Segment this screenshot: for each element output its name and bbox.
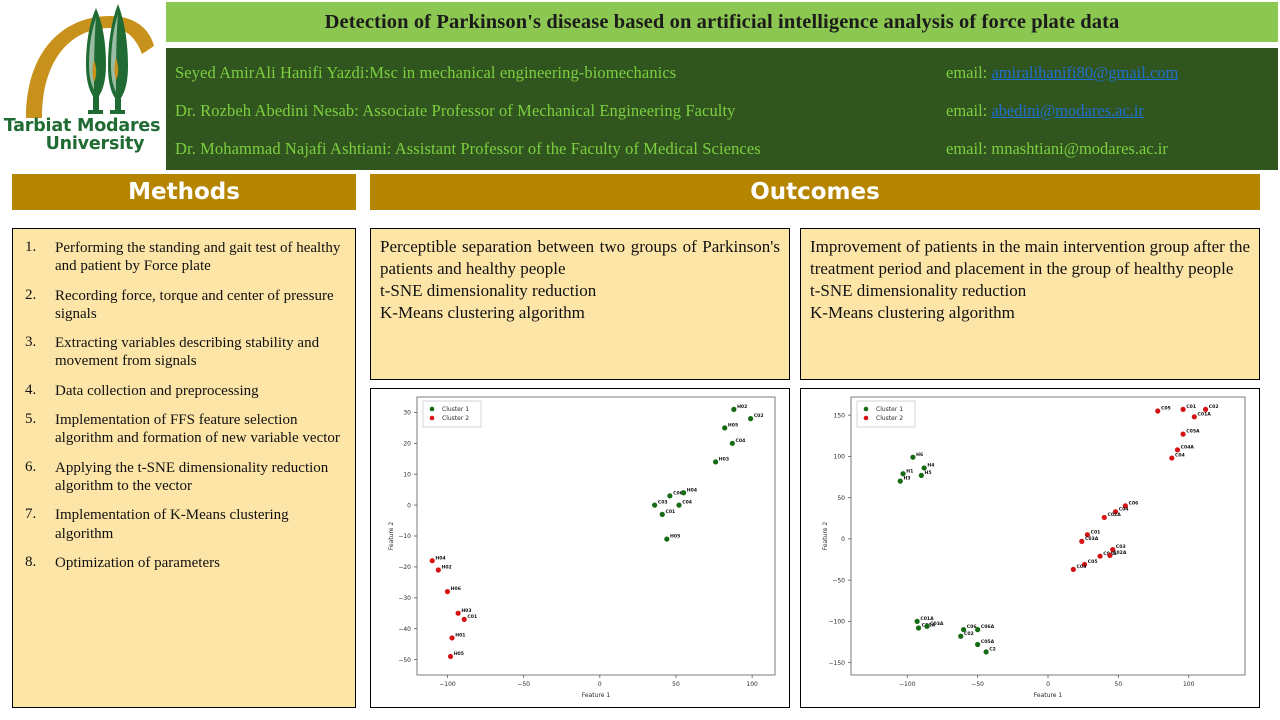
list-item: 2. Recording force, torque and center of…: [17, 287, 347, 324]
svg-text:C05: C05: [1161, 406, 1171, 412]
svg-text:100: 100: [746, 681, 758, 688]
svg-text:C04A: C04A: [1181, 444, 1195, 450]
poster-title-band: Detection of Parkinson's disease based o…: [166, 2, 1278, 42]
list-item-number: 2.: [17, 287, 55, 324]
svg-text:C04: C04: [1175, 453, 1185, 459]
svg-text:H1: H1: [906, 468, 913, 474]
svg-text:−100: −100: [439, 681, 456, 688]
svg-text:C02: C02: [964, 631, 974, 637]
author-name: Dr. Mohammad Najafi Ashtiani: Assistant …: [175, 139, 761, 159]
svg-text:Cluster 1: Cluster 1: [876, 406, 903, 413]
svg-text:H05: H05: [454, 651, 464, 657]
list-item-number: 4.: [17, 382, 55, 400]
svg-text:Cluster 1: Cluster 1: [442, 406, 469, 413]
logo-wordmark: Tarbiat Modares University: [0, 118, 164, 154]
author-row: Seyed AmirAli Hanifi Yazdi:Msc in mechan…: [166, 54, 1278, 92]
svg-text:C04: C04: [682, 500, 692, 506]
svg-text:0: 0: [1046, 681, 1050, 688]
list-item-label: Optimization of parameters: [55, 554, 220, 572]
svg-text:100: 100: [1183, 681, 1195, 688]
list-item: 8. Optimization of parameters: [17, 554, 347, 572]
list-item: 3. Extracting variables describing stabi…: [17, 334, 347, 371]
svg-text:−10: −10: [398, 533, 411, 540]
svg-text:C04: C04: [736, 438, 746, 444]
author-email: email: amiralihanifi80@gmail.com: [946, 63, 1178, 83]
list-item: 7. Implementation of K-Means clustering …: [17, 506, 347, 543]
svg-text:C2: C2: [989, 647, 996, 653]
outcome-right-line-2: t-SNE dimensionality reduction: [810, 280, 1250, 302]
svg-text:H6: H6: [916, 452, 923, 458]
outcome-right-textbox: Improvement of patients in the main inte…: [800, 228, 1260, 380]
outcome-card-right: Improvement of patients in the main inte…: [800, 228, 1260, 708]
outcome-left-paragraph: Perceptible separation between two group…: [380, 236, 780, 280]
svg-text:C01: C01: [1186, 404, 1196, 410]
svg-text:0: 0: [598, 681, 602, 688]
list-item-number: 6.: [17, 459, 55, 496]
email-label: email:: [946, 63, 987, 82]
svg-text:H02: H02: [737, 404, 747, 410]
svg-text:C02A: C02A: [1113, 550, 1127, 556]
svg-text:−100: −100: [829, 619, 846, 626]
svg-text:H5: H5: [925, 470, 932, 476]
outcome-left-line-2: t-SNE dimensionality reduction: [380, 280, 780, 302]
svg-text:C01: C01: [467, 614, 477, 620]
list-item-label: Performing the standing and gait test of…: [55, 239, 347, 276]
svg-text:Feature 2: Feature 2: [388, 522, 395, 551]
svg-text:Cluster 2: Cluster 2: [442, 415, 469, 422]
svg-text:Feature 1: Feature 1: [582, 692, 611, 699]
scatter-plot-left: −100−50050100−50−40−30−20−100102030Featu…: [370, 388, 790, 708]
svg-text:50: 50: [837, 495, 845, 502]
section-header-methods: Methods: [12, 174, 356, 210]
author-email: email: mnashtiani@modares.ac.ir: [946, 139, 1168, 159]
svg-text:H02: H02: [442, 565, 452, 571]
list-item-label: Recording force, torque and center of pr…: [55, 287, 347, 324]
svg-text:C03: C03: [1077, 564, 1087, 570]
svg-text:H4: H4: [927, 463, 934, 469]
svg-text:−50: −50: [517, 681, 530, 688]
svg-text:C03A: C03A: [1085, 536, 1099, 542]
list-item-number: 3.: [17, 334, 55, 371]
svg-text:50: 50: [1115, 681, 1123, 688]
svg-text:H01: H01: [455, 633, 465, 639]
list-item-label: Implementation of FFS feature selection …: [55, 411, 347, 448]
svg-text:C03: C03: [1116, 544, 1126, 550]
section-header-outcomes: Outcomes: [370, 174, 1260, 210]
svg-text:H03: H03: [719, 456, 729, 462]
list-item-label: Extracting variables describing stabilit…: [55, 334, 347, 371]
outcome-left-line-3: K-Means clustering algorithm: [380, 302, 780, 324]
svg-text:H05: H05: [728, 422, 738, 428]
svg-text:C03: C03: [658, 500, 668, 506]
author-email-link[interactable]: abedini@modares.ac.ir: [991, 101, 1144, 120]
list-item-label: Applying the t-SNE dimensionality reduct…: [55, 459, 347, 496]
svg-text:C02: C02: [754, 413, 764, 419]
svg-text:C05: C05: [1088, 559, 1098, 565]
list-item-label: Implementation of K-Means clustering alg…: [55, 506, 347, 543]
svg-text:Feature 2: Feature 2: [822, 522, 829, 551]
svg-text:−100: −100: [899, 681, 916, 688]
author-name: Dr. Rozbeh Abedini Nesab: Associate Prof…: [175, 101, 736, 121]
section-header-methods-label: Methods: [128, 179, 240, 205]
svg-text:H06: H06: [451, 586, 461, 592]
scatter-plot-left-canvas: −100−50050100−50−40−30−20−100102030Featu…: [371, 389, 787, 705]
list-item: 1. Performing the standing and gait test…: [17, 239, 347, 276]
svg-text:C06: C06: [1129, 500, 1139, 506]
svg-text:C04: C04: [1119, 506, 1129, 512]
svg-text:C05A: C05A: [981, 639, 995, 645]
svg-text:H03: H03: [461, 608, 471, 614]
page-title: Detection of Parkinson's disease based o…: [325, 11, 1120, 34]
svg-text:H3: H3: [903, 476, 910, 482]
svg-text:H05: H05: [670, 534, 680, 540]
svg-text:−50: −50: [971, 681, 984, 688]
list-item: 4. Data collection and preprocessing: [17, 382, 347, 400]
svg-text:C01: C01: [665, 509, 675, 515]
list-item-number: 5.: [17, 411, 55, 448]
scatter-plot-right-canvas: −100−50050100−150−100−50050100150Feature…: [801, 389, 1257, 705]
svg-text:C03A: C03A: [930, 621, 944, 627]
svg-text:C01: C01: [1091, 529, 1101, 535]
outcome-right-paragraph: Improvement of patients in the main inte…: [810, 236, 1250, 280]
svg-text:30: 30: [403, 410, 411, 417]
svg-text:H04: H04: [687, 487, 697, 493]
section-header-outcomes-label: Outcomes: [750, 179, 880, 205]
email-label: email:: [946, 101, 987, 120]
svg-text:50: 50: [672, 681, 680, 688]
list-item-number: 8.: [17, 554, 55, 572]
svg-text:0: 0: [841, 536, 845, 543]
svg-text:150: 150: [834, 412, 846, 419]
svg-text:C02A: C02A: [1107, 512, 1121, 518]
email-label: email:: [946, 139, 987, 158]
outcome-card-left: Perceptible separation between two group…: [370, 228, 790, 708]
list-item: 5. Implementation of FFS feature selecti…: [17, 411, 347, 448]
list-item-number: 7.: [17, 506, 55, 543]
svg-text:0: 0: [407, 502, 411, 509]
author-name: Seyed AmirAli Hanifi Yazdi:Msc in mechan…: [175, 63, 676, 83]
poster-root: Tarbiat Modares University Detection of …: [0, 0, 1280, 720]
authors-band: Seyed AmirAli Hanifi Yazdi:Msc in mechan…: [166, 48, 1278, 170]
outcome-left-textbox: Perceptible separation between two group…: [370, 228, 790, 380]
methods-panel: 1. Performing the standing and gait test…: [12, 228, 356, 708]
outcome-right-line-3: K-Means clustering algorithm: [810, 302, 1250, 324]
svg-text:Feature 1: Feature 1: [1034, 692, 1063, 699]
list-item-label: Data collection and preprocessing: [55, 382, 259, 400]
svg-text:C02: C02: [1209, 404, 1219, 410]
svg-text:C06A: C06A: [981, 624, 995, 630]
svg-text:−50: −50: [832, 577, 845, 584]
list-item: 6. Applying the t-SNE dimensionality red…: [17, 459, 347, 496]
svg-text:−50: −50: [398, 657, 411, 664]
scatter-plot-right: −100−50050100−150−100−50050100150Feature…: [800, 388, 1260, 708]
svg-text:20: 20: [403, 441, 411, 448]
svg-text:H04: H04: [435, 555, 445, 561]
list-item-number: 1.: [17, 239, 55, 276]
university-logo: Tarbiat Modares University: [0, 0, 164, 172]
svg-text:Cluster 2: Cluster 2: [876, 415, 903, 422]
svg-text:−150: −150: [829, 660, 846, 667]
svg-text:C05A: C05A: [1186, 429, 1200, 435]
svg-text:10: 10: [403, 471, 411, 478]
svg-text:100: 100: [834, 454, 846, 461]
logo-mark-icon: [6, 2, 158, 122]
svg-text:−40: −40: [398, 626, 411, 633]
author-row: Dr. Rozbeh Abedini Nesab: Associate Prof…: [166, 92, 1278, 130]
svg-text:C01A: C01A: [1198, 411, 1212, 417]
svg-text:−30: −30: [398, 595, 411, 602]
author-row: Dr. Mohammad Najafi Ashtiani: Assistant …: [166, 130, 1278, 168]
svg-text:−20: −20: [398, 564, 411, 571]
author-email: email: abedini@modares.ac.ir: [946, 101, 1144, 121]
author-email-link[interactable]: amiralihanifi80@gmail.com: [991, 63, 1178, 82]
logo-line-2: University: [0, 136, 164, 154]
author-email-text: mnashtiani@modares.ac.ir: [991, 139, 1167, 158]
